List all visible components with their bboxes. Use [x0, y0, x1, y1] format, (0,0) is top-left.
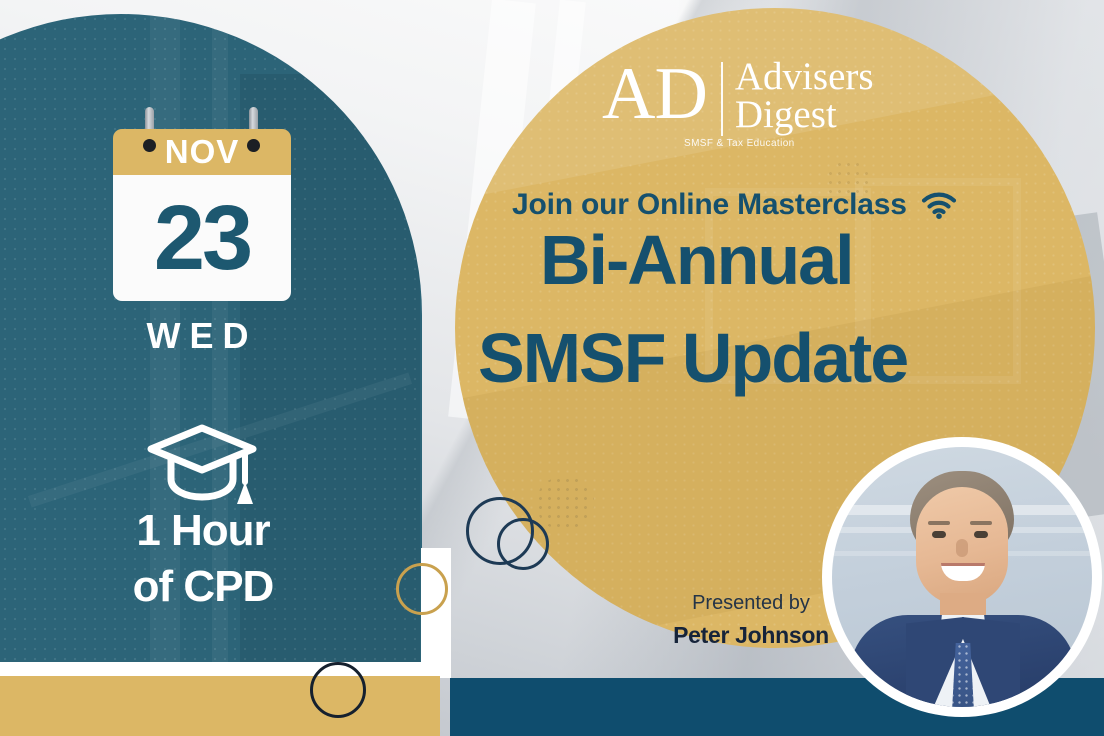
decorative-ring-gold	[396, 563, 448, 615]
cpd-line-1: 1 Hour	[90, 506, 316, 556]
calendar-month: NOV	[165, 133, 240, 171]
logo-divider	[721, 62, 723, 136]
decorative-ring-small	[497, 518, 549, 570]
kicker-text: Join our Online Masterclass	[512, 188, 907, 222]
decorative-ring-bottom	[310, 662, 366, 718]
logo-word-advisers: Advisers	[735, 58, 874, 96]
calendar-badge: NOV 23	[113, 129, 291, 301]
presenter-name: Peter Johnson	[641, 622, 861, 649]
wifi-icon	[921, 191, 957, 219]
avatar-photo	[832, 447, 1092, 707]
calendar-header: NOV	[113, 129, 291, 175]
calendar-ring-cap-right	[247, 139, 260, 152]
headline-line-2: SMSF Update	[478, 320, 1078, 396]
logo-tagline: SMSF & Tax Education	[684, 138, 795, 149]
graduation-cap-icon	[145, 422, 260, 510]
calendar-body: 23	[113, 175, 291, 301]
cpd-line-2: of CPD	[90, 562, 316, 612]
logo-monogram: AD	[602, 58, 707, 130]
presenter-avatar	[822, 437, 1102, 717]
kicker-row: Join our Online Masterclass	[512, 188, 1032, 222]
calendar-ring-cap-left	[143, 139, 156, 152]
calendar-day: 23	[154, 192, 250, 284]
gold-accent-bar	[0, 676, 440, 736]
promo-graphic: AD Advisers Digest SMSF & Tax Education …	[0, 0, 1104, 736]
calendar-weekday: WED	[113, 315, 291, 357]
headline-line-1: Bi-Annual	[540, 222, 1060, 298]
logo-word-digest: Digest	[735, 96, 874, 134]
brand-logo: AD Advisers Digest SMSF & Tax Education	[602, 58, 902, 154]
